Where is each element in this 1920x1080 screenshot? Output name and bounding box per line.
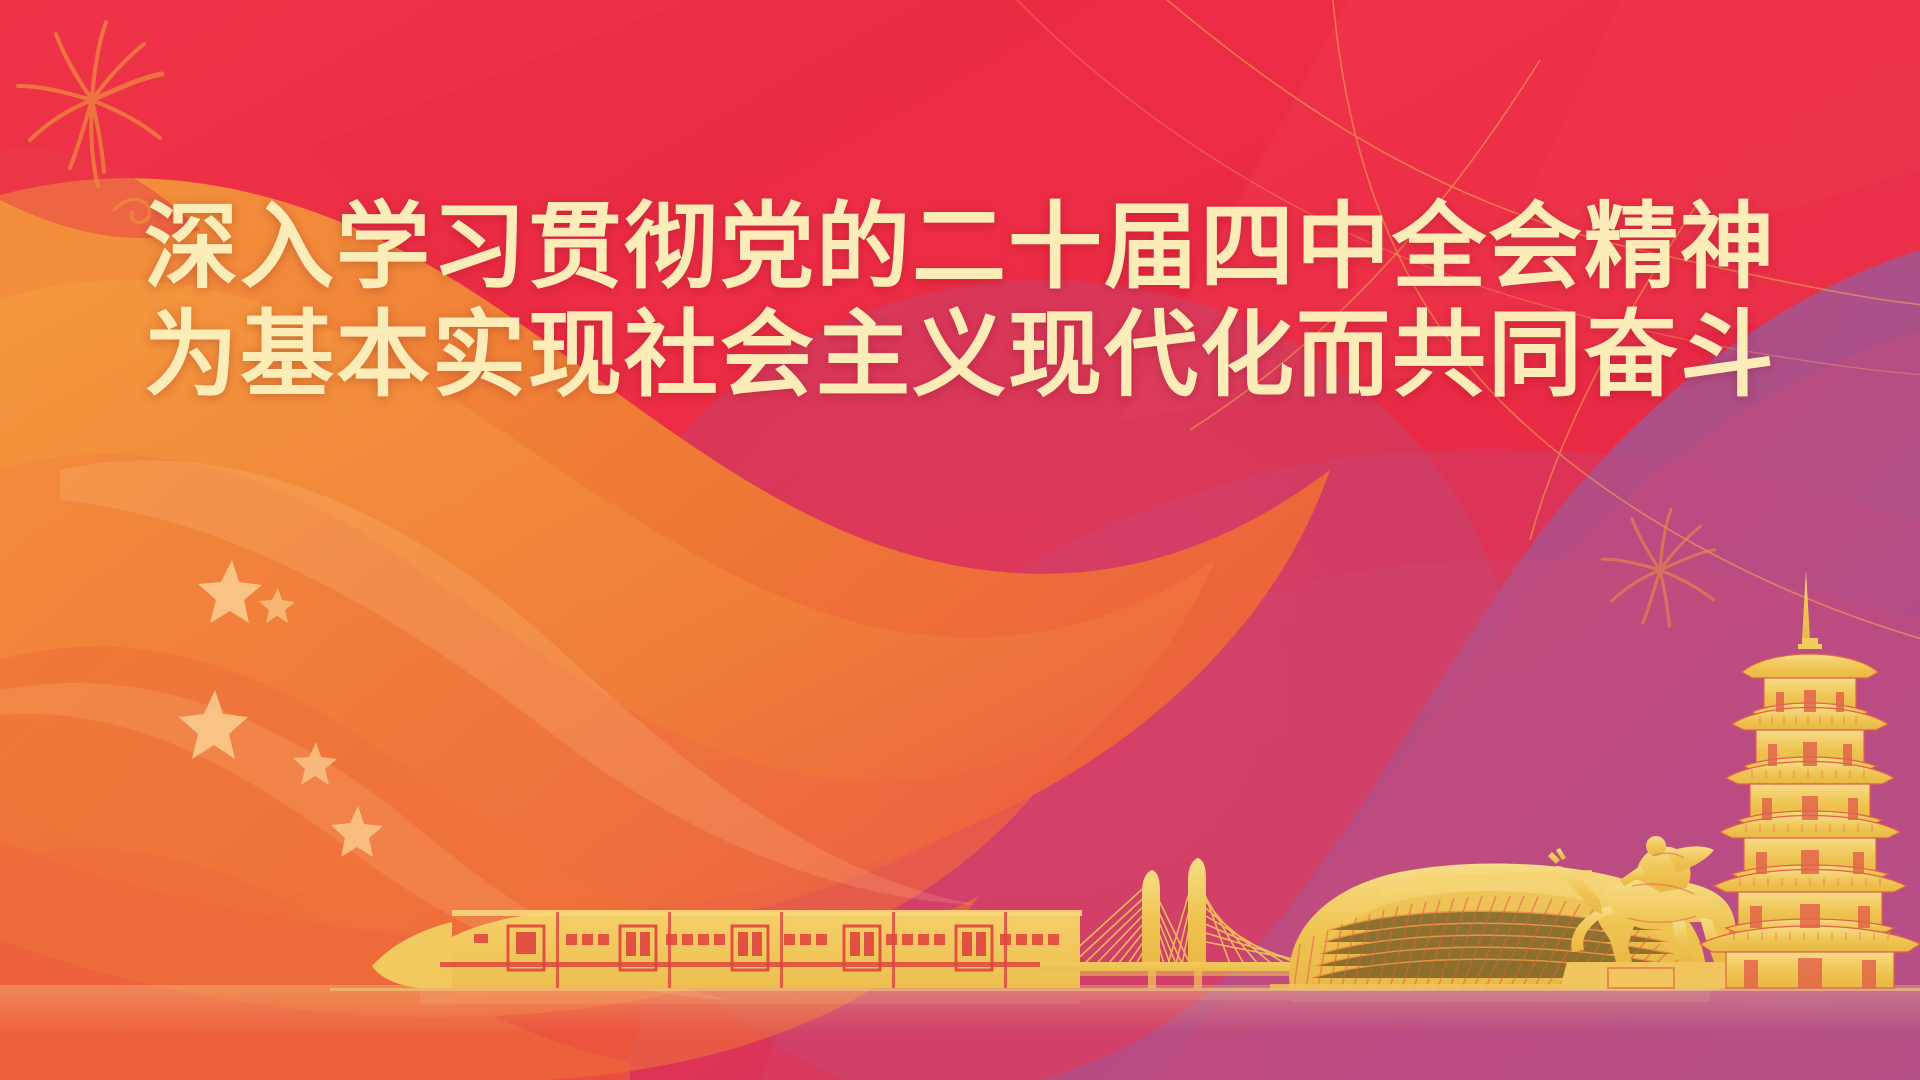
background-artwork: [0, 0, 1920, 1080]
banner-root: 深入学习贯彻党的二十届四中全会精神 为基本实现社会主义现代化而共同奋斗: [0, 0, 1920, 1080]
skyline-reflection: [420, 990, 1710, 1004]
